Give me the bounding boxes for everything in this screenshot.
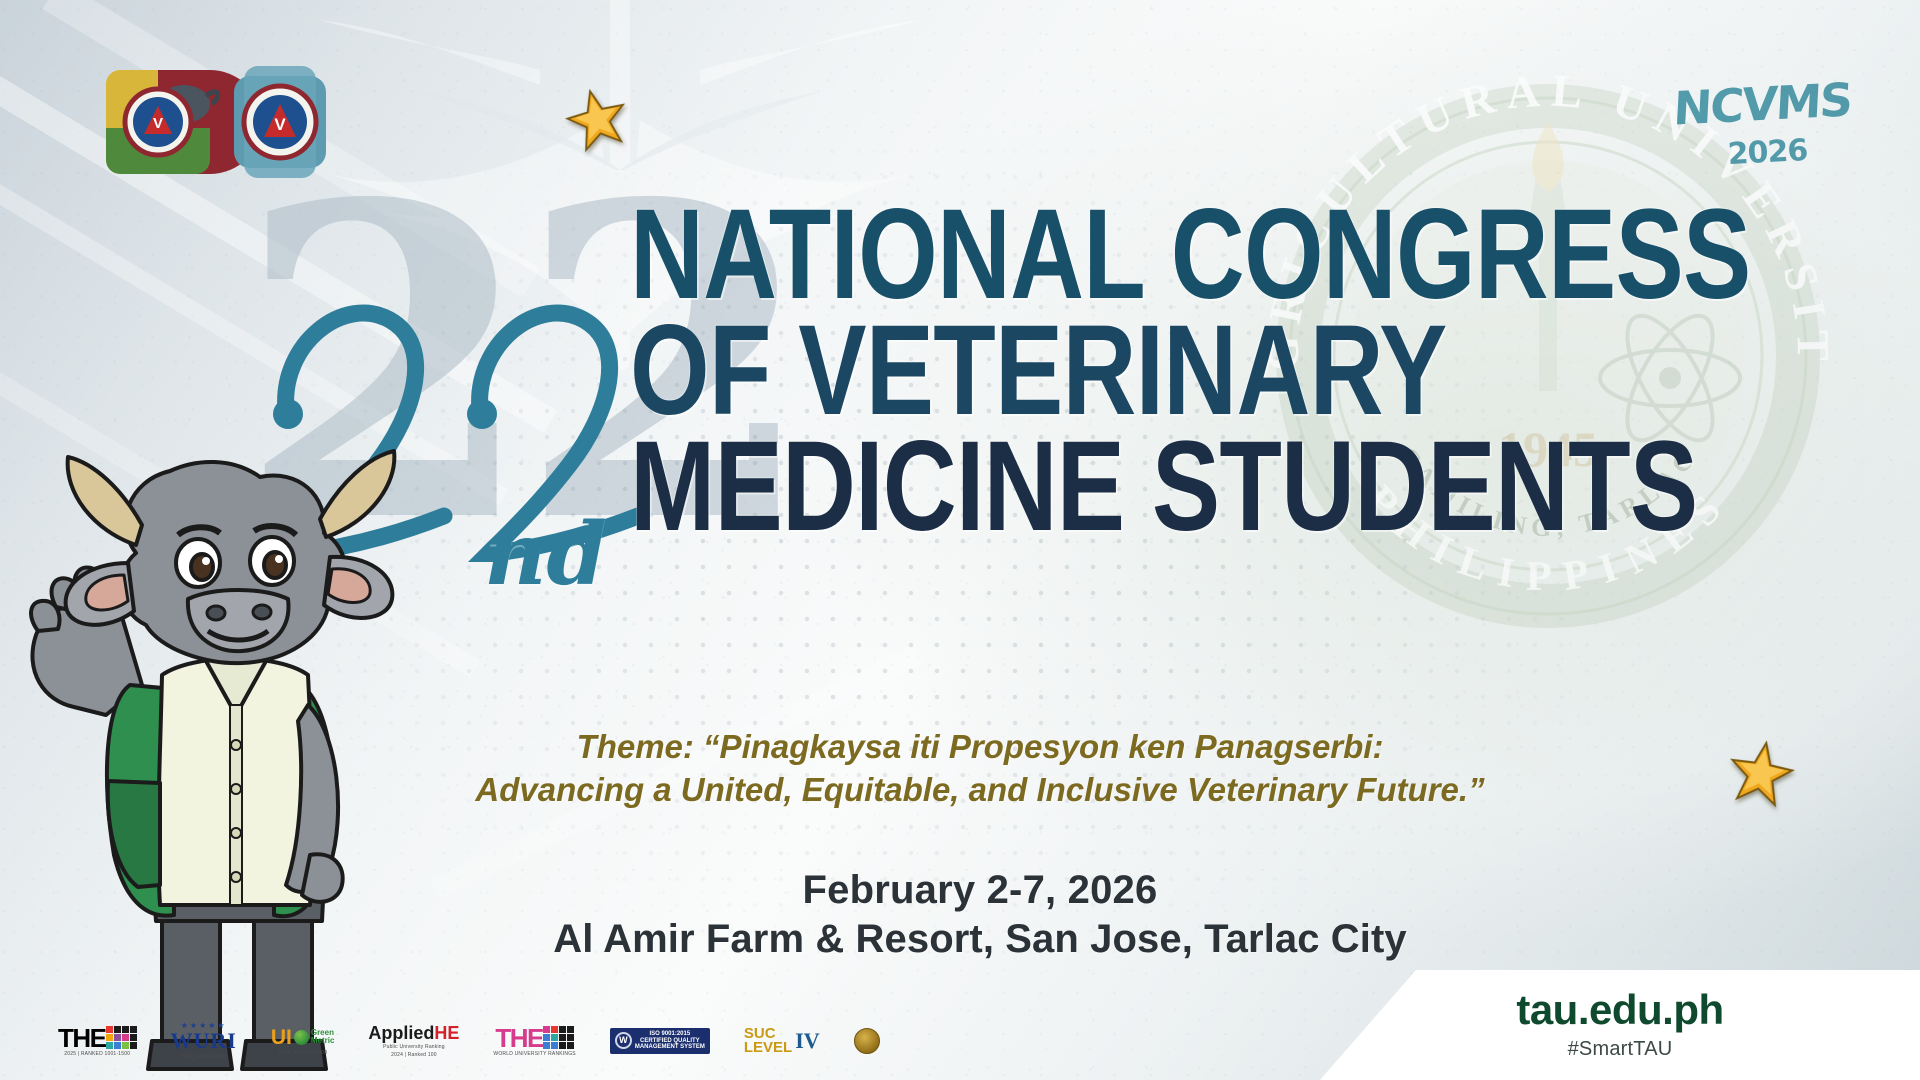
theme-line-1: Theme: “Pinagkaysa iti Propesyon ken Pan… bbox=[390, 726, 1570, 769]
accreditation-badges: THE 2025 | RANKED 1001-1500 ★★★★★ WURI 2… bbox=[58, 1012, 880, 1070]
ncvms-event-logo-icon: NCVMS 2026 bbox=[1668, 58, 1878, 178]
title-line-3: MEDICINE STUDENTS bbox=[630, 432, 1590, 542]
star-icon bbox=[559, 81, 634, 156]
veterinary-association-logo-icon: V bbox=[234, 66, 326, 178]
hashtag: #SmartTAU bbox=[1568, 1038, 1673, 1061]
svg-text:V: V bbox=[153, 115, 163, 132]
badge-ui-greenmetric: UI Green Metric 2024 | RANKED 800 bbox=[271, 1027, 335, 1056]
star-icon bbox=[1723, 735, 1799, 811]
badge-the-world-rankings: THE WORLD UNIVERSITY RANKINGS bbox=[493, 1026, 575, 1057]
the-logo-blocks bbox=[106, 1026, 137, 1049]
badge-the-impact-rankings: THE 2025 | RANKED 1001-1500 bbox=[58, 1026, 137, 1057]
badge-subtext: 2025 | RANKED 94 bbox=[181, 1055, 227, 1060]
title-line-2: OF VETERINARY bbox=[630, 316, 1590, 426]
event-theme: Theme: “Pinagkaysa iti Propesyon ken Pan… bbox=[390, 726, 1570, 812]
wuri-logo-word: WURI bbox=[171, 1030, 237, 1052]
iso-line-3: MANAGEMENT SYSTEM bbox=[635, 1044, 705, 1050]
the-world-logo-blocks bbox=[543, 1026, 574, 1049]
badge-subtext: WORLD UNIVERSITY RANKINGS bbox=[493, 1052, 575, 1057]
appliedhe-word-b: HE bbox=[434, 1023, 459, 1043]
ched-seal-icon bbox=[854, 1028, 880, 1054]
svg-text:2026: 2026 bbox=[1727, 133, 1808, 172]
svg-text:V: V bbox=[274, 115, 286, 134]
svg-text:NCVMS: NCVMS bbox=[1672, 73, 1852, 136]
iso-seal-icon: W bbox=[615, 1032, 632, 1049]
iso-line-1: ISO 9001:2015 bbox=[650, 1031, 691, 1037]
badge-subtext: 2025 | RANKED 1001-1500 bbox=[64, 1052, 130, 1057]
the-logo-word: THE bbox=[58, 1028, 106, 1049]
website-ribbon[interactable]: tau.edu.ph #SmartTAU bbox=[1320, 970, 1920, 1080]
iso-line-2: CERTIFIED QUALITY bbox=[640, 1038, 700, 1044]
badge-applied-he: AppliedHE Public University Ranking 2024… bbox=[368, 1024, 459, 1058]
organizer-logos: V V bbox=[100, 62, 390, 182]
website-url[interactable]: tau.edu.ph bbox=[1516, 989, 1723, 1031]
the-world-logo-word: THE bbox=[495, 1028, 543, 1049]
poster-canvas: 22 AGRICULTURAL UNIVERSITY PHILIPPINES C… bbox=[0, 0, 1920, 1080]
badge-iso-certification: W ISO 9001:2015 CERTIFIED QUALITY MANAGE… bbox=[610, 1028, 710, 1055]
suc-roman-level: IV bbox=[795, 1030, 819, 1052]
theme-line-2: Advancing a United, Equitable, and Inclu… bbox=[390, 769, 1570, 812]
page-title: NATIONAL CONGRESS OF VETERINARY MEDICINE… bbox=[630, 200, 1830, 542]
badge-subtext: Public University Ranking bbox=[383, 1045, 445, 1050]
appliedhe-word-a: Applied bbox=[368, 1023, 434, 1043]
event-schedule: February 2-7, 2026 Al Amir Farm & Resort… bbox=[430, 868, 1530, 962]
title-line-1: NATIONAL CONGRESS bbox=[630, 200, 1590, 310]
greenmetric-line-2: Metric bbox=[311, 1036, 335, 1045]
event-venue: Al Amir Farm & Resort, San Jose, Tarlac … bbox=[430, 917, 1530, 962]
script-edition-suffix: nd bbox=[484, 512, 607, 598]
ui-logo-letter: UI bbox=[271, 1027, 292, 1048]
badge-ched-seal bbox=[854, 1028, 880, 1054]
suc-line-2: LEVEL bbox=[744, 1039, 792, 1056]
badge-wuri-ranking: ★★★★★ WURI 2025 | RANKED 94 bbox=[171, 1022, 237, 1060]
badge-subtext: 2024 | RANKED 800 bbox=[278, 1051, 327, 1056]
event-date: February 2-7, 2026 bbox=[430, 868, 1530, 913]
globe-icon bbox=[294, 1030, 309, 1045]
badge-subtext-2: 2024 | Ranked 100 bbox=[391, 1053, 437, 1058]
badge-suc-level: SUC LEVEL IV bbox=[744, 1027, 820, 1056]
